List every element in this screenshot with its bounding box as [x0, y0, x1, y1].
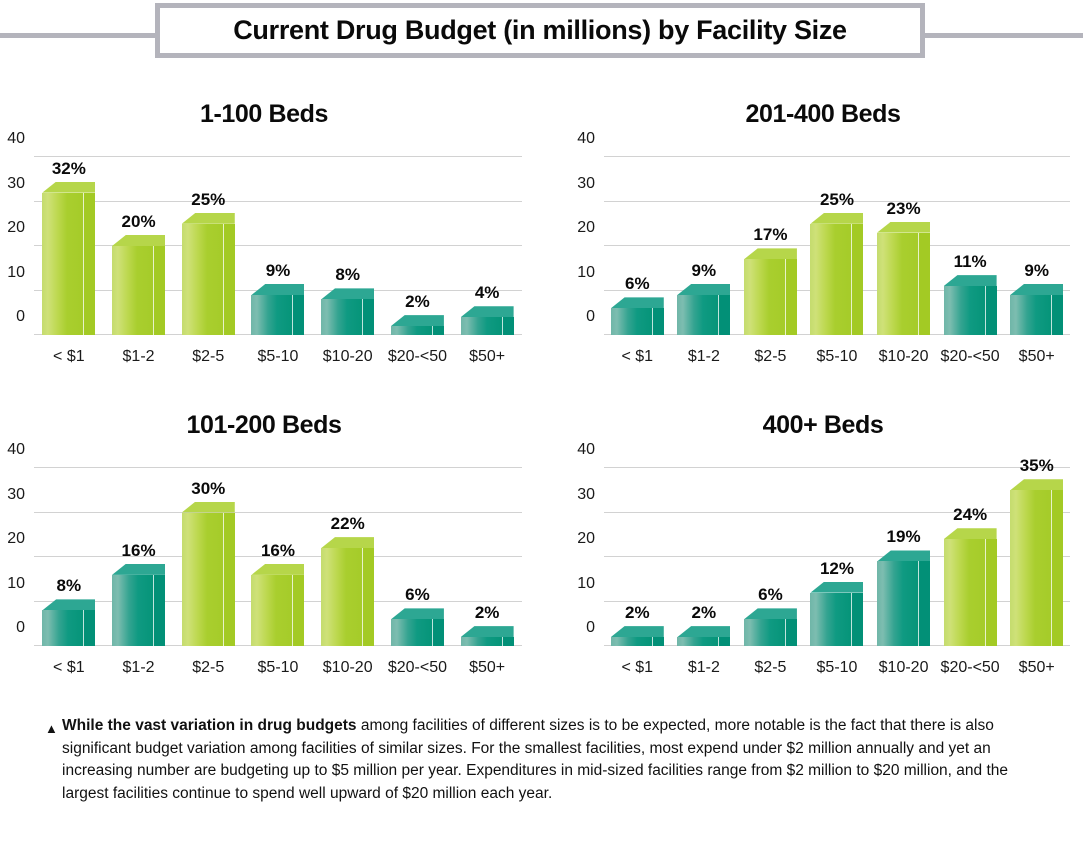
x-axis-tick-label: $10-20	[879, 348, 929, 366]
bar	[251, 575, 293, 646]
bar-value-label: 19%	[887, 527, 921, 547]
bar-front-face	[611, 637, 653, 646]
bar-slot: 25%$2-5	[173, 157, 243, 335]
bar-top-face	[877, 550, 930, 561]
bar	[321, 299, 363, 335]
bar-slot: 2%$1-2	[671, 468, 738, 646]
x-axis-tick-label: $5-10	[817, 659, 858, 677]
bar-front-face	[321, 299, 363, 335]
bar-slot: 16%$1-2	[104, 468, 174, 646]
caption-block: ▲While the vast variation in drug budget…	[62, 715, 1052, 805]
bar-side-face	[293, 575, 304, 646]
bar-side-face	[653, 308, 664, 335]
bar-top-face	[744, 608, 797, 619]
bar-front-face	[182, 224, 224, 335]
bar-top-face	[810, 213, 863, 224]
bar-value-label: 11%	[954, 252, 987, 272]
bar-front-face	[42, 193, 84, 335]
x-axis-tick-label: $1-2	[123, 348, 155, 366]
bar-front-face	[112, 575, 154, 646]
bar-value-label: 20%	[122, 212, 156, 232]
bar-front-face	[877, 561, 919, 646]
y-axis-tick-label: 0	[16, 308, 25, 326]
bar-top-face	[42, 599, 95, 610]
bar	[42, 193, 84, 335]
x-axis-tick-label: < $1	[53, 348, 85, 366]
plot-area: 0102030402%< $12%$1-26%$2-512%$5-1019%$1…	[604, 468, 1070, 646]
bar	[182, 224, 224, 335]
bar-slot: 11%$20-<50	[937, 157, 1004, 335]
bar-top-face	[391, 315, 444, 326]
x-axis-tick-label: $2-5	[192, 659, 224, 677]
bar-side-face	[719, 295, 730, 335]
chart-panel-400-plus-beds: 400+ Beds 0102030402%< $12%$1-26%$2-512%…	[548, 406, 1076, 691]
y-axis-tick-label: 40	[577, 441, 595, 459]
bar-top-face	[42, 182, 95, 193]
bar	[251, 295, 293, 335]
bar-slot: 32%< $1	[34, 157, 104, 335]
bar-top-face	[944, 275, 997, 286]
bar-value-label: 9%	[266, 261, 291, 281]
bar-side-face	[224, 224, 235, 335]
x-axis-tick-label: $2-5	[192, 348, 224, 366]
bar-group: 6%< $19%$1-217%$2-525%$5-1023%$10-2011%$…	[604, 157, 1070, 335]
x-axis-tick-label: < $1	[621, 659, 653, 677]
bar-slot: 20%$1-2	[104, 157, 174, 335]
bar-top-face	[611, 297, 664, 308]
bar-side-face	[919, 561, 930, 646]
bar	[677, 637, 719, 646]
y-axis-tick-label: 10	[7, 575, 25, 593]
bar	[321, 548, 363, 646]
bar-slot: 6%$2-5	[737, 468, 804, 646]
bar-front-face	[744, 259, 786, 335]
x-axis-tick-label: < $1	[53, 659, 85, 677]
y-axis-tick-label: 10	[577, 264, 595, 282]
y-axis-tick-label: 40	[7, 441, 25, 459]
chart-panel-101-200-beds: 101-200 Beds 0102030408%< $116%$1-230%$2…	[0, 406, 528, 691]
x-axis-tick-label: $10-20	[323, 659, 373, 677]
bar-top-face	[944, 528, 997, 539]
bar-slot: 2%$20-<50	[383, 157, 453, 335]
bar-side-face	[1052, 490, 1063, 646]
bar-side-face	[224, 513, 235, 647]
title-banner: Current Drug Budget (in millions) by Fac…	[0, 0, 1083, 70]
bar	[944, 539, 986, 646]
bar-top-face	[461, 306, 514, 317]
bar-slot: 22%$10-20	[313, 468, 383, 646]
bar-value-label: 2%	[692, 603, 717, 623]
bar-value-label: 25%	[191, 190, 225, 210]
x-axis-tick-label: $50+	[1019, 348, 1055, 366]
y-axis-tick-label: 10	[577, 575, 595, 593]
bar-value-label: 17%	[753, 225, 787, 245]
bar-front-face	[944, 539, 986, 646]
bar	[744, 259, 786, 335]
y-axis-tick-label: 30	[577, 486, 595, 504]
bar-value-label: 23%	[887, 199, 921, 219]
bar-front-face	[251, 295, 293, 335]
bar-front-face	[611, 308, 653, 335]
y-axis-tick-label: 30	[577, 175, 595, 193]
x-axis-tick-label: $1-2	[123, 659, 155, 677]
x-axis-tick-label: $20-<50	[941, 348, 1000, 366]
y-axis-tick-label: 20	[577, 219, 595, 237]
bar	[461, 317, 503, 335]
bar	[42, 610, 84, 646]
x-axis-tick-label: $5-10	[817, 348, 858, 366]
bar-value-label: 6%	[405, 585, 430, 605]
bar-front-face	[810, 593, 852, 646]
bar-front-face	[877, 233, 919, 335]
bar-side-face	[653, 637, 664, 646]
bar-front-face	[182, 513, 224, 647]
bar-front-face	[744, 619, 786, 646]
bar-side-face	[154, 246, 165, 335]
bar-front-face	[42, 610, 84, 646]
bar-top-face	[321, 537, 374, 548]
bar	[182, 513, 224, 647]
bar-top-face	[461, 626, 514, 637]
x-axis-tick-label: $10-20	[323, 348, 373, 366]
x-axis-tick-label: $5-10	[258, 659, 299, 677]
bar-top-face	[251, 564, 304, 575]
bar	[1010, 295, 1052, 335]
bar-top-face	[391, 608, 444, 619]
y-axis-tick-label: 30	[7, 486, 25, 504]
banner-rule-right	[922, 33, 1083, 38]
bar-front-face	[810, 224, 852, 335]
bar-value-label: 2%	[625, 603, 650, 623]
bar-top-face	[112, 564, 165, 575]
bar	[744, 619, 786, 646]
bar-top-face	[877, 222, 930, 233]
bar-front-face	[1010, 490, 1052, 646]
bar-front-face	[461, 317, 503, 335]
bar	[810, 593, 852, 646]
bar	[810, 224, 852, 335]
bar-value-label: 12%	[820, 559, 854, 579]
bar	[112, 246, 154, 335]
x-axis-tick-label: $10-20	[879, 659, 929, 677]
y-axis-tick-label: 10	[7, 264, 25, 282]
x-axis-tick-label: $1-2	[688, 659, 720, 677]
bar-front-face	[391, 619, 433, 646]
x-axis-tick-label: $50+	[469, 659, 505, 677]
banner-rule-left	[0, 33, 162, 38]
chart-title: 201-400 Beds	[548, 100, 1076, 129]
bar	[1010, 490, 1052, 646]
bar-front-face	[391, 326, 433, 335]
bar	[944, 286, 986, 335]
x-axis-tick-label: < $1	[621, 348, 653, 366]
bar-value-label: 24%	[953, 505, 987, 525]
bar-value-label: 16%	[122, 541, 156, 561]
plot-area: 0102030408%< $116%$1-230%$2-516%$5-1022%…	[34, 468, 522, 646]
bar-value-label: 30%	[191, 479, 225, 499]
bar-value-label: 8%	[57, 576, 82, 596]
bar-top-face	[1010, 284, 1063, 295]
chart-panel-201-400-beds: 201-400 Beds 0102030406%< $19%$1-217%$2-…	[548, 95, 1076, 380]
bar-side-face	[433, 326, 444, 335]
x-axis-tick-label: $20-<50	[388, 659, 447, 677]
bar-top-face	[611, 626, 664, 637]
bar-top-face	[744, 248, 797, 259]
bar-side-face	[852, 224, 863, 335]
y-axis-tick-label: 30	[7, 175, 25, 193]
bar-side-face	[852, 593, 863, 646]
chart-title: 1-100 Beds	[0, 100, 528, 129]
bar-slot: 35%$50+	[1003, 468, 1070, 646]
x-axis-tick-label: $50+	[1019, 659, 1055, 677]
y-axis-tick-label: 20	[577, 530, 595, 548]
bar-top-face	[182, 502, 235, 513]
bar-side-face	[986, 286, 997, 335]
y-axis-tick-label: 0	[16, 619, 25, 637]
chart-panel-1-100-beds: 1-100 Beds 01020304032%< $120%$1-225%$2-…	[0, 95, 528, 380]
bar-value-label: 2%	[475, 603, 500, 623]
bar-slot: 24%$20-<50	[937, 468, 1004, 646]
bar	[877, 233, 919, 335]
bar-slot: 25%$5-10	[804, 157, 871, 335]
bar-side-face	[503, 317, 514, 335]
bar-slot: 9%$50+	[1003, 157, 1070, 335]
bar-top-face	[677, 284, 730, 295]
bar-slot: 8%$10-20	[313, 157, 383, 335]
y-axis-tick-label: 40	[577, 130, 595, 148]
bar-value-label: 9%	[692, 261, 717, 281]
bar-top-face	[182, 213, 235, 224]
bar	[677, 295, 719, 335]
caption-lead-text: While the vast variation in drug budgets	[62, 717, 357, 734]
bar-side-face	[293, 295, 304, 335]
bar	[391, 619, 433, 646]
bar-slot: 8%< $1	[34, 468, 104, 646]
bar-side-face	[786, 259, 797, 335]
bar-slot: 2%< $1	[604, 468, 671, 646]
title-box: Current Drug Budget (in millions) by Fac…	[155, 3, 925, 58]
bar-slot: 30%$2-5	[173, 468, 243, 646]
bar-slot: 6%$20-<50	[383, 468, 453, 646]
bar-top-face	[1010, 479, 1063, 490]
bar-side-face	[84, 193, 95, 335]
bar-value-label: 32%	[52, 159, 86, 179]
y-axis-tick-label: 20	[7, 530, 25, 548]
x-axis-tick-label: $2-5	[754, 659, 786, 677]
bar-side-face	[1052, 295, 1063, 335]
bar-side-face	[84, 610, 95, 646]
bar-top-face	[251, 284, 304, 295]
bar-side-face	[363, 299, 374, 335]
bar	[461, 637, 503, 646]
bar	[877, 561, 919, 646]
bar-slot: 19%$10-20	[870, 468, 937, 646]
bar-value-label: 4%	[475, 283, 500, 303]
bar-group: 2%< $12%$1-26%$2-512%$5-1019%$10-2024%$2…	[604, 468, 1070, 646]
bar-top-face	[810, 582, 863, 593]
x-axis-tick-label: $20-<50	[941, 659, 1000, 677]
bar-value-label: 25%	[820, 190, 854, 210]
bar-side-face	[503, 637, 514, 646]
bar-side-face	[363, 548, 374, 646]
bar-side-face	[919, 233, 930, 335]
bar-front-face	[251, 575, 293, 646]
bar-value-label: 6%	[758, 585, 783, 605]
bar-slot: 6%< $1	[604, 157, 671, 335]
bar-slot: 16%$5-10	[243, 468, 313, 646]
bar-front-face	[944, 286, 986, 335]
bar-side-face	[719, 637, 730, 646]
y-axis-tick-label: 20	[7, 219, 25, 237]
x-axis-tick-label: $20-<50	[388, 348, 447, 366]
bar-front-face	[461, 637, 503, 646]
y-axis-tick-label: 40	[7, 130, 25, 148]
bar-side-face	[433, 619, 444, 646]
bar	[611, 637, 653, 646]
bar-group: 32%< $120%$1-225%$2-59%$5-108%$10-202%$2…	[34, 157, 522, 335]
bar-value-label: 16%	[261, 541, 295, 561]
bar-front-face	[1010, 295, 1052, 335]
bar-group: 8%< $116%$1-230%$2-516%$5-1022%$10-206%$…	[34, 468, 522, 646]
y-axis-tick-label: 0	[586, 619, 595, 637]
bar-slot: 2%$50+	[452, 468, 522, 646]
bar-slot: 4%$50+	[452, 157, 522, 335]
bar	[112, 575, 154, 646]
triangle-icon: ▲	[45, 718, 58, 741]
bar-top-face	[112, 235, 165, 246]
chart-title: 400+ Beds	[548, 411, 1076, 440]
bar-top-face	[321, 288, 374, 299]
bar-slot: 23%$10-20	[870, 157, 937, 335]
bar-slot: 17%$2-5	[737, 157, 804, 335]
bar-front-face	[677, 637, 719, 646]
bar-value-label: 2%	[405, 292, 430, 312]
bar-slot: 9%$5-10	[243, 157, 313, 335]
x-axis-tick-label: $50+	[469, 348, 505, 366]
bar	[611, 308, 653, 335]
bar-slot: 12%$5-10	[804, 468, 871, 646]
bar-side-face	[154, 575, 165, 646]
bar-slot: 9%$1-2	[671, 157, 738, 335]
bar-front-face	[112, 246, 154, 335]
x-axis-tick-label: $5-10	[258, 348, 299, 366]
plot-area: 0102030406%< $19%$1-217%$2-525%$5-1023%$…	[604, 157, 1070, 335]
bar-value-label: 8%	[335, 265, 360, 285]
bar-front-face	[321, 548, 363, 646]
bar-top-face	[677, 626, 730, 637]
chart-title: 101-200 Beds	[0, 411, 528, 440]
bar-value-label: 35%	[1020, 456, 1054, 476]
y-axis-tick-label: 0	[586, 308, 595, 326]
plot-area: 01020304032%< $120%$1-225%$2-59%$5-108%$…	[34, 157, 522, 335]
x-axis-tick-label: $1-2	[688, 348, 720, 366]
bar-side-face	[986, 539, 997, 646]
bar-value-label: 6%	[625, 274, 650, 294]
bar-value-label: 22%	[331, 514, 365, 534]
bar-front-face	[677, 295, 719, 335]
bar-side-face	[786, 619, 797, 646]
bar	[391, 326, 433, 335]
x-axis-tick-label: $2-5	[754, 348, 786, 366]
page-title: Current Drug Budget (in millions) by Fac…	[233, 15, 847, 46]
bar-value-label: 9%	[1024, 261, 1049, 281]
